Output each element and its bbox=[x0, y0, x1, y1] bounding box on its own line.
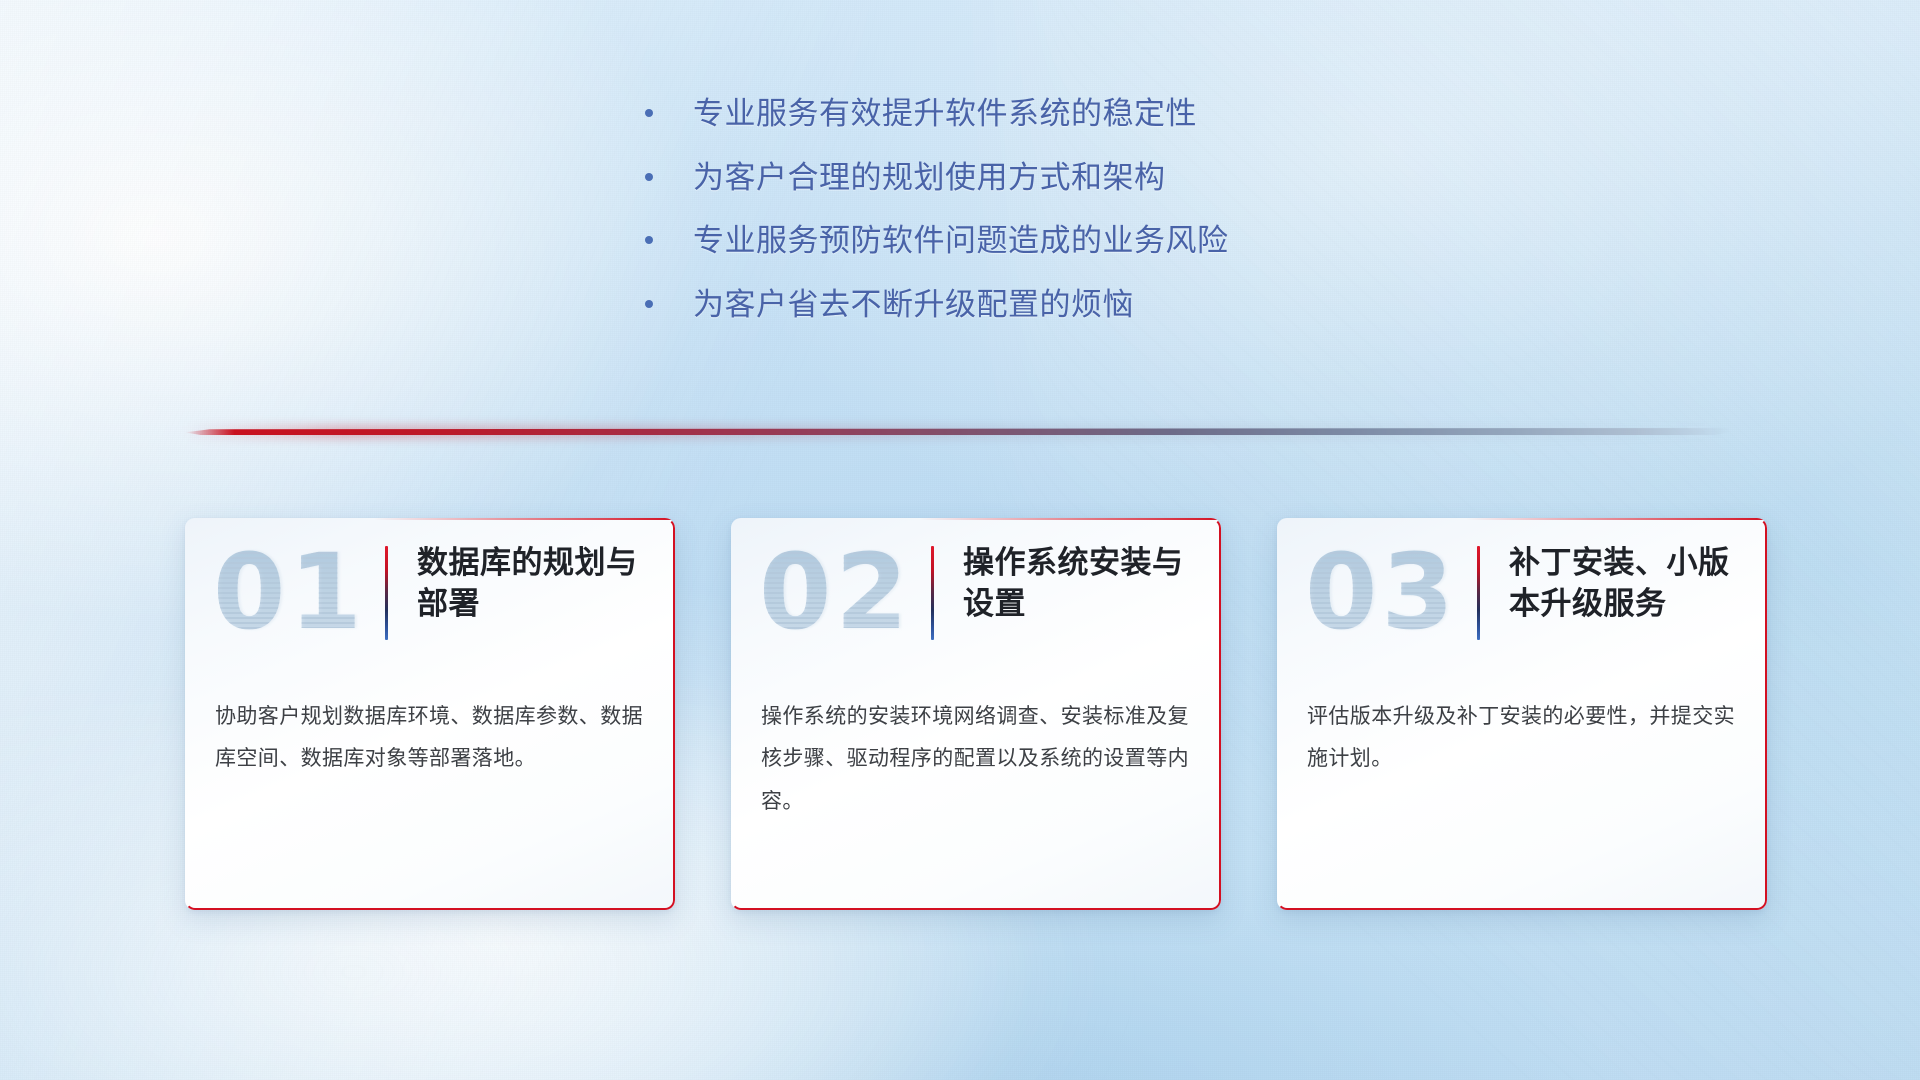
service-card-01[interactable]: 01 01 数据库的规划与部署 协助客户规划数据库环境、数据库参数、数据库空间、… bbox=[185, 518, 675, 910]
service-card-02[interactable]: 02 02 操作系统安装与设置 操作系统的安装环境网络调查、安装标准及复核步骤、… bbox=[731, 518, 1221, 910]
bullet-dot-icon bbox=[645, 236, 653, 244]
card-title: 操作系统安装与设置 bbox=[963, 542, 1201, 624]
card-number-watermark: 02 bbox=[759, 540, 912, 644]
card-number-watermark: 01 bbox=[213, 540, 366, 644]
bullet-dot-icon bbox=[645, 109, 653, 117]
card-header: 03 03 补丁安装、小版本升级服务 bbox=[1277, 518, 1767, 686]
card-header: 01 01 数据库的规划与部署 bbox=[185, 518, 675, 686]
bullet-text: 专业服务有效提升软件系统的稳定性 bbox=[693, 97, 1197, 132]
card-title: 数据库的规划与部署 bbox=[417, 542, 655, 624]
card-divider-bar bbox=[931, 546, 934, 640]
bullet-dot-icon bbox=[645, 300, 653, 308]
card-body-text: 操作系统的安装环境网络调查、安装标准及复核步骤、驱动程序的配置以及系统的设置等内… bbox=[761, 696, 1191, 823]
bullet-text: 为客户合理的规划使用方式和架构 bbox=[693, 161, 1166, 196]
card-header: 02 02 操作系统安装与设置 bbox=[731, 518, 1221, 686]
bullet-list: 专业服务有效提升软件系统的稳定性 为客户合理的规划使用方式和架构 专业服务预防软… bbox=[645, 97, 1545, 352]
card-body-text: 评估版本升级及补丁安装的必要性，并提交实施计划。 bbox=[1307, 696, 1737, 781]
bullet-dot-icon bbox=[645, 173, 653, 181]
section-divider bbox=[185, 424, 1730, 444]
service-card-03[interactable]: 03 03 补丁安装、小版本升级服务 评估版本升级及补丁安装的必要性，并提交实施… bbox=[1277, 518, 1767, 910]
card-divider-bar bbox=[1477, 546, 1480, 640]
list-item: 为客户合理的规划使用方式和架构 bbox=[645, 161, 1545, 196]
card-title: 补丁安装、小版本升级服务 bbox=[1509, 542, 1747, 624]
list-item: 为客户省去不断升级配置的烦恼 bbox=[645, 288, 1545, 323]
list-item: 专业服务预防软件问题造成的业务风险 bbox=[645, 224, 1545, 259]
bullet-text: 专业服务预防软件问题造成的业务风险 bbox=[693, 224, 1229, 259]
card-body-text: 协助客户规划数据库环境、数据库参数、数据库空间、数据库对象等部署落地。 bbox=[215, 696, 645, 781]
card-divider-bar bbox=[385, 546, 388, 640]
bullet-text: 为客户省去不断升级配置的烦恼 bbox=[693, 288, 1134, 323]
list-item: 专业服务有效提升软件系统的稳定性 bbox=[645, 97, 1545, 132]
card-number-watermark: 03 bbox=[1305, 540, 1458, 644]
card-row: 01 01 数据库的规划与部署 协助客户规划数据库环境、数据库参数、数据库空间、… bbox=[185, 518, 1767, 910]
